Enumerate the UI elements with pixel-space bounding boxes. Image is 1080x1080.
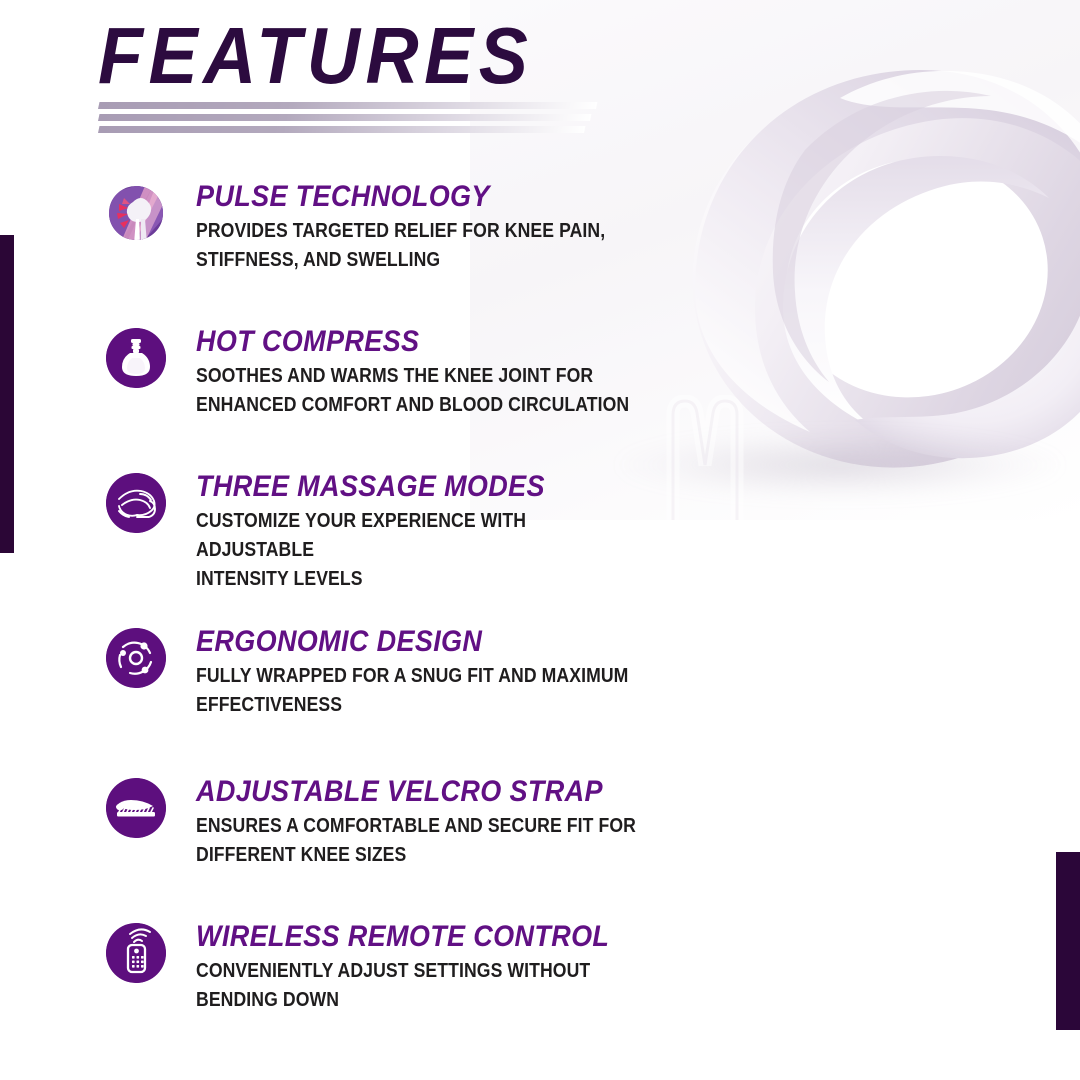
feature-title: HOT COMPRESS (196, 326, 649, 358)
feature-description: FULLY WRAPPED FOR A SNUG FIT AND MAXIMUM… (196, 661, 628, 719)
feature-item-wireless-remote-control: WIRELESS REMOTE CONTROL CONVENIENTLY ADJ… (106, 921, 655, 1014)
feature-item-adjustable-velcro-strap: ADJUSTABLE VELCRO STRAP ENSURES A COMFOR… (106, 776, 708, 869)
feature-text-hot-compress: HOT COMPRESS SOOTHES AND WARMS THE KNEE … (196, 326, 700, 419)
feature-text-pulse-technology: PULSE TECHNOLOGY PROVIDES TARGETED RELIE… (196, 181, 672, 274)
knee-joint-pulse-icon (106, 183, 166, 243)
feature-title: ERGONOMIC DESIGN (196, 626, 649, 658)
feature-text-ergonomic-design: ERGONOMIC DESIGN FULLY WRAPPED FOR A SNU… (196, 626, 699, 719)
feature-description: ENSURES A COMFORTABLE AND SECURE FIT FOR… (196, 811, 636, 869)
feature-item-hot-compress: HOT COMPRESS SOOTHES AND WARMS THE KNEE … (106, 326, 700, 419)
feature-text-wireless-remote-control: WIRELESS REMOTE CONTROL CONVENIENTLY ADJ… (196, 921, 655, 1014)
feature-title: ADJUSTABLE VELCRO STRAP (196, 776, 656, 808)
feature-title: THREE MASSAGE MODES (196, 471, 664, 503)
feature-item-pulse-technology: PULSE TECHNOLOGY PROVIDES TARGETED RELIE… (106, 181, 672, 274)
feature-description: PROVIDES TARGETED RELIEF FOR KNEE PAIN, … (196, 216, 605, 274)
wireless-remote-icon (106, 923, 166, 983)
feature-item-ergonomic-design: ERGONOMIC DESIGN FULLY WRAPPED FOR A SNU… (106, 626, 699, 719)
feature-title: PULSE TECHNOLOGY (196, 181, 624, 213)
feature-title: WIRELESS REMOTE CONTROL (196, 921, 609, 953)
velcro-strap-icon (106, 778, 166, 838)
feature-list: PULSE TECHNOLOGY PROVIDES TARGETED RELIE… (0, 0, 1080, 1080)
massage-hand-icon (106, 473, 166, 533)
hot-water-bottle-icon (106, 328, 166, 388)
ergonomic-orbit-icon (106, 628, 166, 688)
feature-item-three-massage-modes: THREE MASSAGE MODES CUSTOMIZE YOUR EXPER… (106, 471, 716, 593)
feature-text-three-massage-modes: THREE MASSAGE MODES CUSTOMIZE YOUR EXPER… (196, 471, 716, 593)
infographic-page: FEATURES (0, 0, 1080, 1080)
feature-description: SOOTHES AND WARMS THE KNEE JOINT FOR ENH… (196, 361, 629, 419)
feature-description: CUSTOMIZE YOUR EXPERIENCE WITH ADJUSTABL… (196, 506, 643, 593)
feature-text-adjustable-velcro-strap: ADJUSTABLE VELCRO STRAP ENSURES A COMFOR… (196, 776, 708, 869)
feature-description: CONVENIENTLY ADJUST SETTINGS WITHOUT BEN… (196, 956, 591, 1014)
